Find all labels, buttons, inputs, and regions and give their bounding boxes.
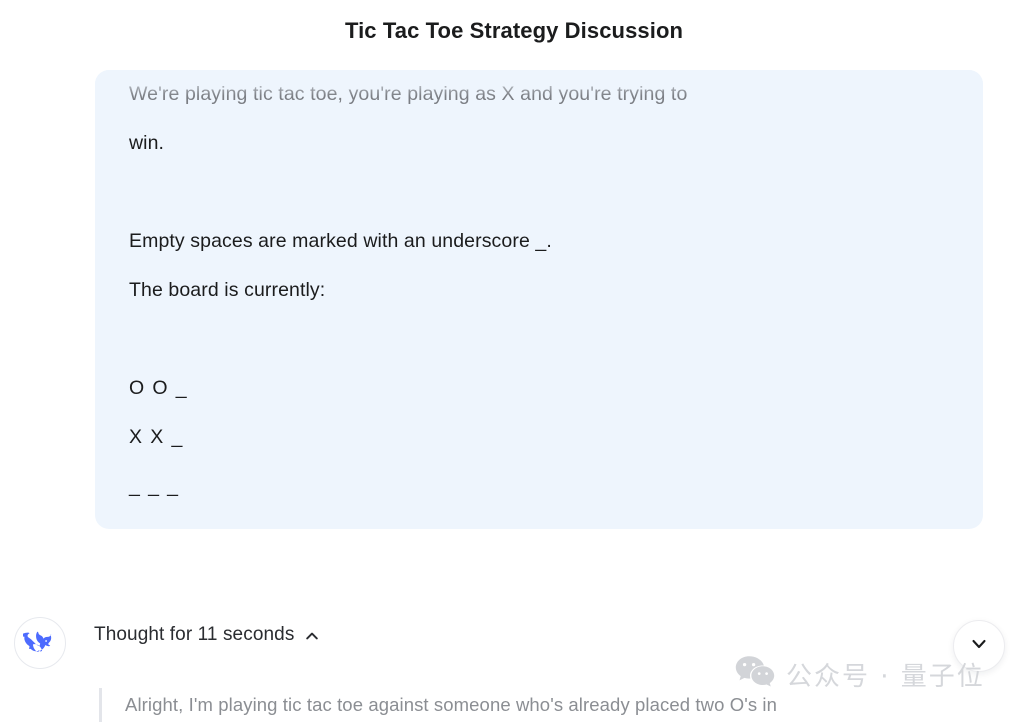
board-row-3: _ _ _ — [129, 462, 957, 511]
board-row-2: X X _ — [129, 413, 957, 462]
user-message-line-1: We're playing tic tac toe, you're playin… — [129, 70, 957, 119]
board-row-1: O O _ — [129, 364, 957, 413]
user-message-bubble: We're playing tic tac toe, you're playin… — [95, 70, 983, 529]
reasoning-text: Alright, I'm playing tic tac toe against… — [125, 688, 959, 722]
avatar — [14, 617, 66, 669]
user-message-text: We're playing tic tac toe, you're playin… — [129, 70, 957, 511]
reasoning-preview: Alright, I'm playing tic tac toe against… — [99, 688, 959, 722]
chevron-down-icon — [968, 633, 990, 660]
scroll-to-bottom-button[interactable] — [953, 620, 1005, 672]
paragraph-gap — [129, 315, 957, 364]
thought-toggle[interactable]: Thought for 11 seconds — [94, 624, 320, 646]
paragraph-gap — [129, 168, 957, 217]
chevron-up-icon[interactable] — [304, 628, 320, 644]
user-message-line-4: The board is currently: — [129, 266, 957, 315]
thought-label: Thought for 11 seconds — [94, 624, 294, 646]
user-message-line-3: Empty spaces are marked with an undersco… — [129, 217, 957, 266]
deepseek-whale-icon — [23, 626, 57, 660]
chat-page: Tic Tac Toe Strategy Discussion We're pl… — [0, 0, 1028, 722]
page-title: Tic Tac Toe Strategy Discussion — [0, 18, 1028, 44]
user-message-line-2: win. — [129, 119, 957, 168]
